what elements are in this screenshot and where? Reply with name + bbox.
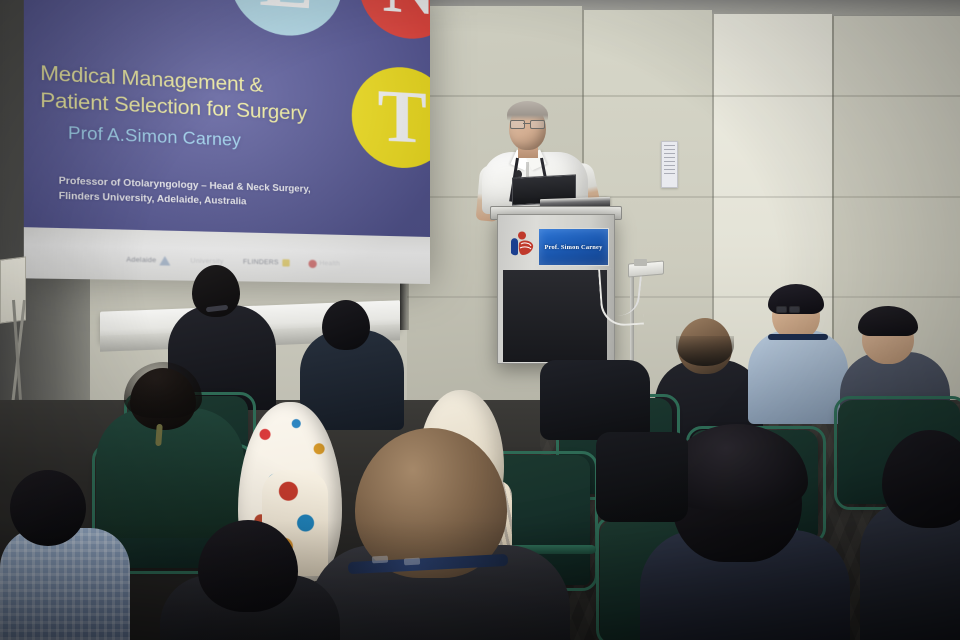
logo-adelaide: Adelaide: [126, 255, 170, 265]
lectern-lower-recess: [503, 270, 607, 362]
wall-seam-horizontal-1: [407, 95, 960, 97]
projection-screen: E N T Medical Management & Patient Selec…: [24, 0, 430, 284]
red-dot-icon: [308, 259, 316, 267]
heart-hand-logo-icon: [509, 231, 535, 259]
lecture-room-photo: E N T Medical Management & Patient Selec…: [0, 0, 960, 640]
logo-health: Health: [308, 259, 340, 268]
lanyard-print-1: [372, 556, 388, 564]
lanyard-print-2: [404, 558, 420, 566]
ent-letter-e-circle: E: [229, 0, 342, 39]
ent-letter-t-circle: T: [352, 64, 430, 170]
yellow-square-icon: [282, 259, 289, 266]
slide-presenter-name: Prof A.Simon Carney: [68, 123, 241, 151]
lectern-nameplate-display: Prof. Simon Carney: [538, 228, 609, 266]
ent-letter-n-circle: N: [359, 0, 430, 42]
logo-flinders: FLINDERS: [243, 258, 289, 266]
floor-bag-1: [540, 360, 650, 440]
presentation-slide: E N T Medical Management & Patient Selec…: [24, 0, 430, 284]
slide-affiliation: Professor of Otolaryngology – Head & Nec…: [59, 173, 372, 213]
wall-seam-horizontal-3: [407, 296, 960, 298]
wall-notice-sheet: [661, 141, 678, 188]
lectern-nameplate-text: Prof. Simon Carney: [545, 244, 603, 251]
eyeglasses-icon: [510, 120, 545, 127]
outlet-plug: [634, 259, 647, 266]
presenter-hair: [507, 101, 548, 121]
triangle-icon: [160, 256, 171, 266]
floor-bag-2: [596, 432, 688, 522]
slide-title: Medical Management & Patient Selection f…: [40, 60, 345, 129]
